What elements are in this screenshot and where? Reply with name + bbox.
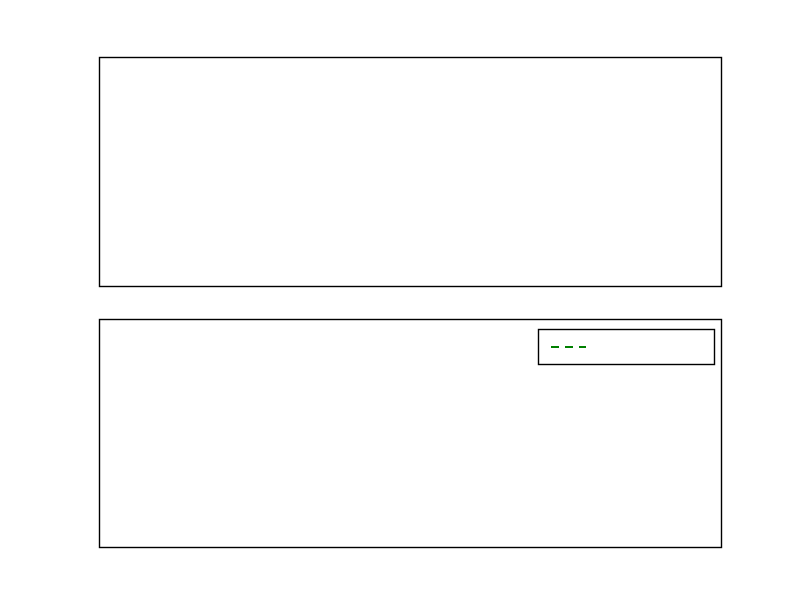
bottom-axes-cumulative-histogram [100,320,722,548]
top-plot-frame [100,58,722,287]
matplotlib-figure [0,0,800,600]
legend-frame [539,330,715,365]
legend [539,330,715,365]
top-axes-differential-histogram [100,58,722,287]
figure-canvas [0,0,800,600]
